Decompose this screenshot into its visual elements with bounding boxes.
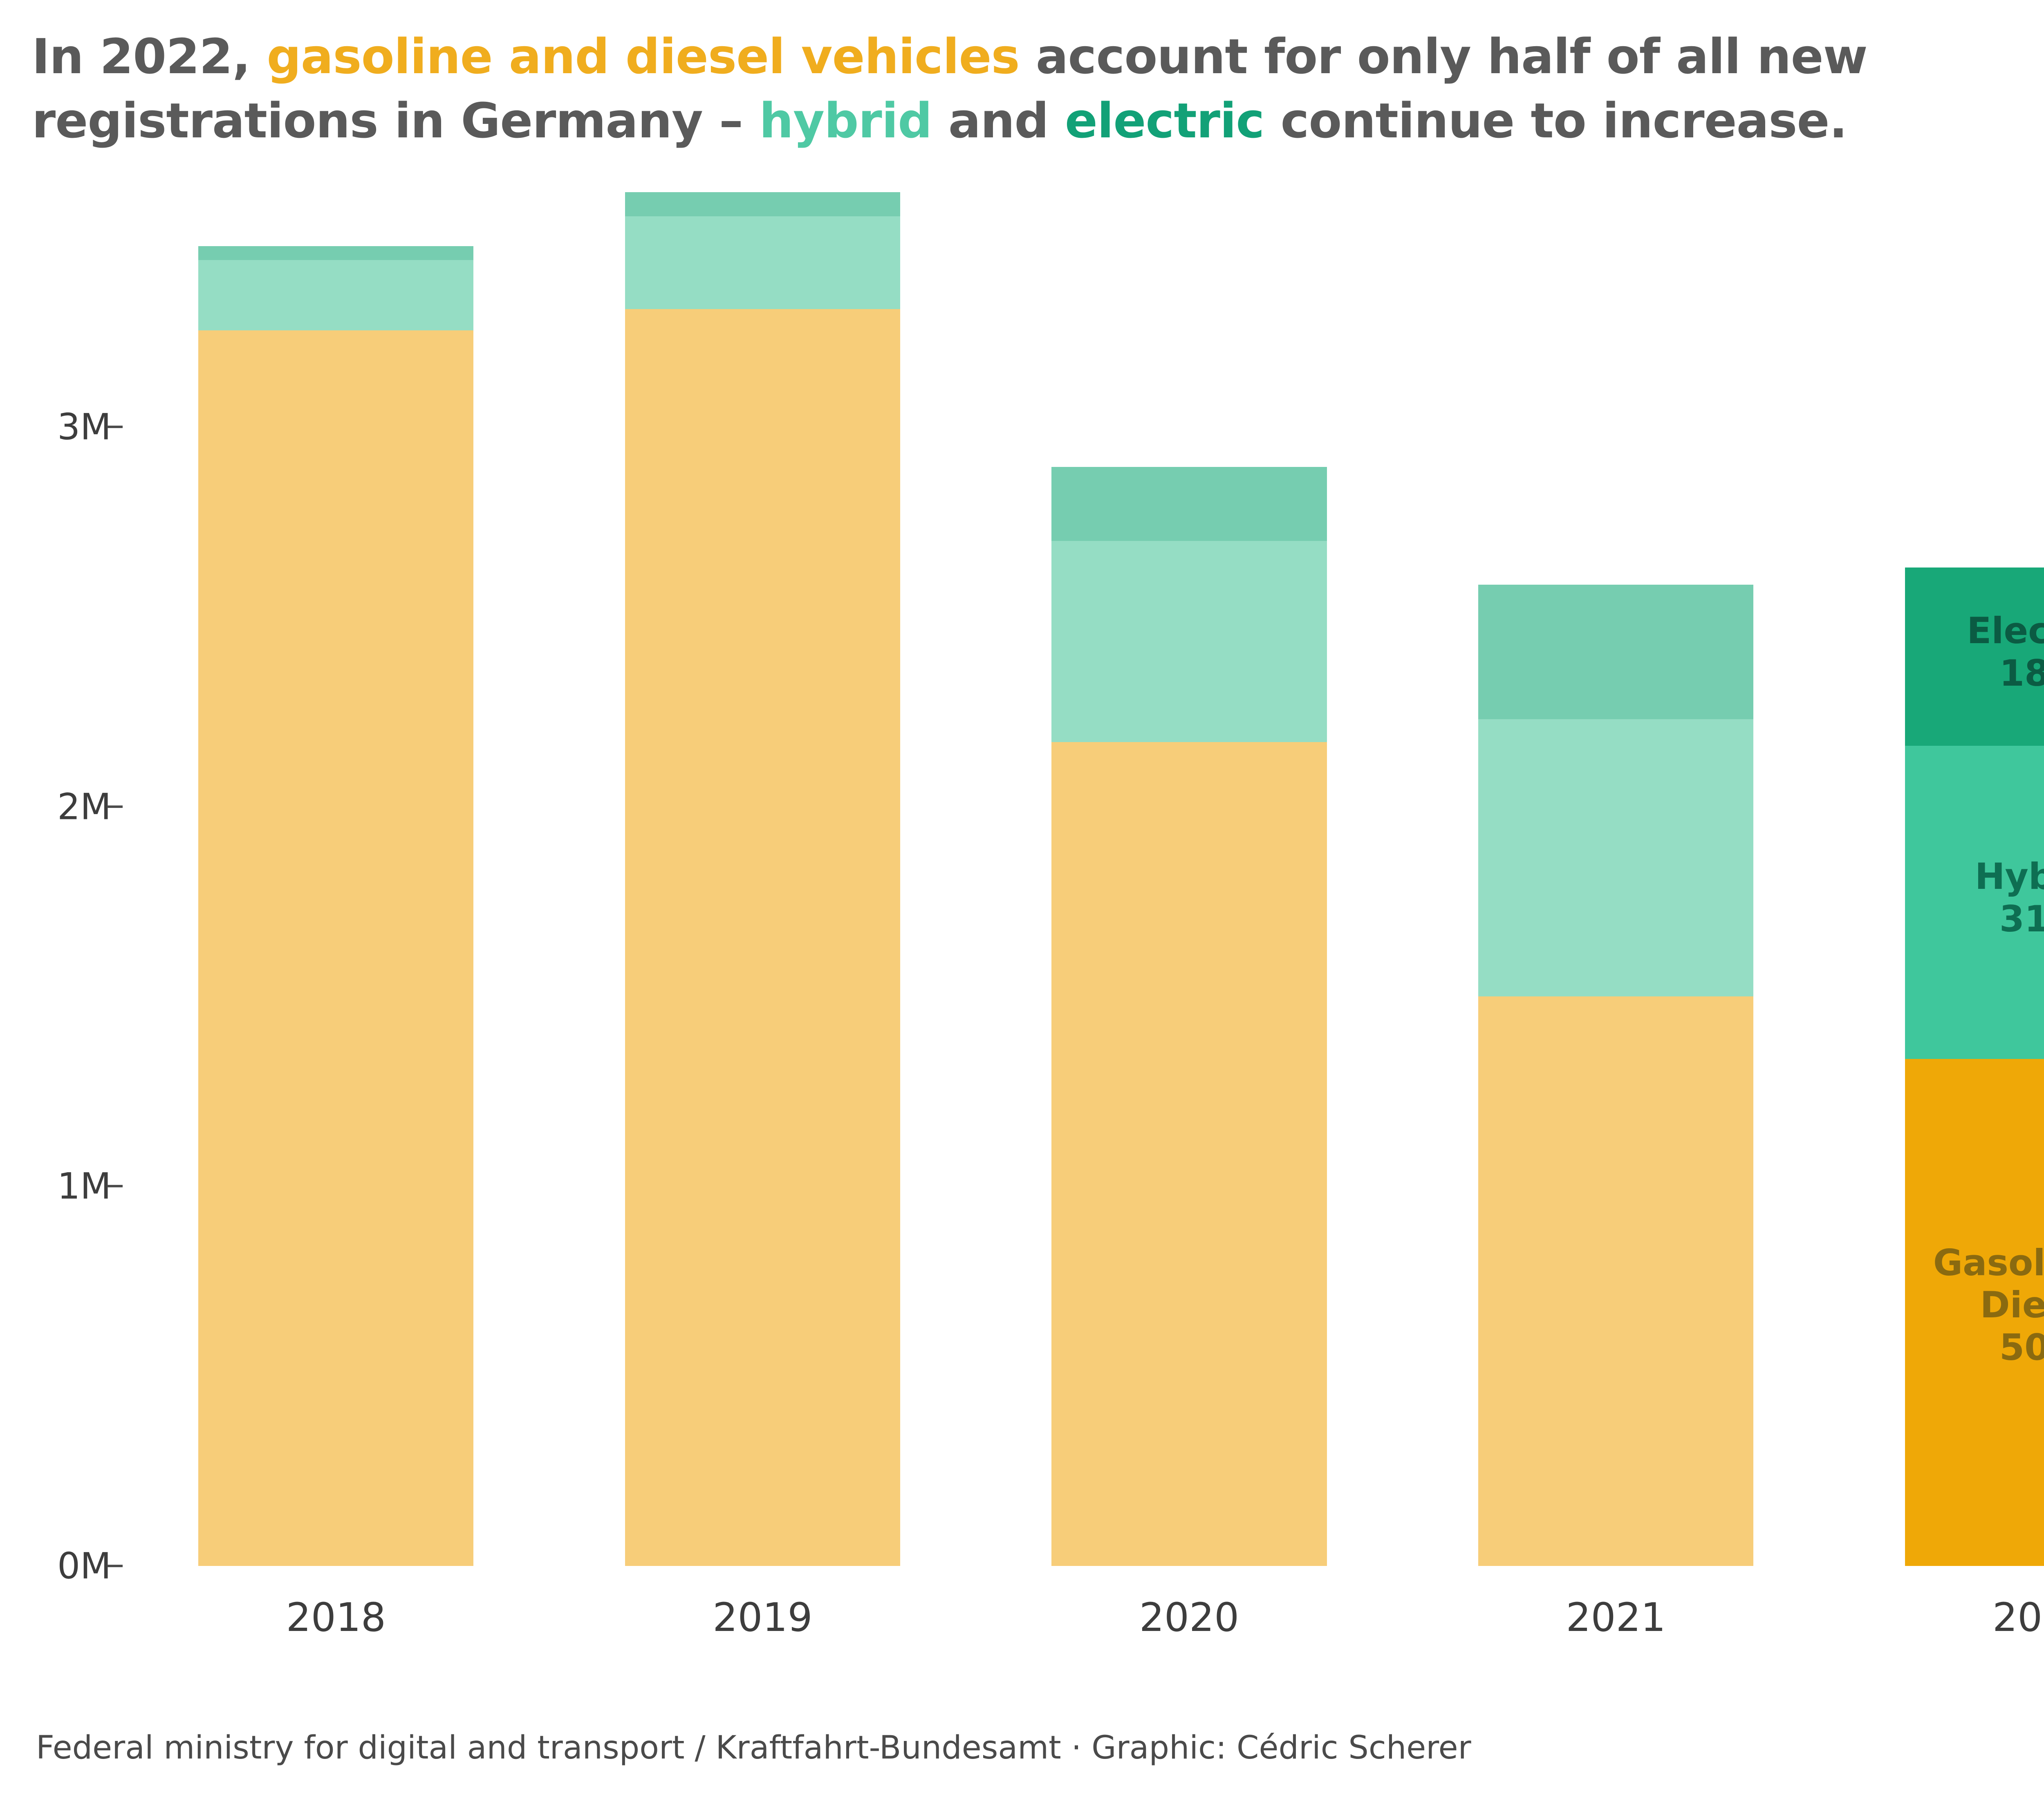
bar-segment-gasoline-diesel-2018[interactable]: [198, 330, 473, 1566]
source-caption: Federal ministry for digital and transpo…: [36, 1729, 1471, 1766]
bar-segment-hybrid-2020[interactable]: [1051, 541, 1327, 742]
title-text-5: continue to increase.: [1264, 92, 1847, 149]
bar-segment-electric-2021[interactable]: [1478, 585, 1753, 720]
y-axis-tick-mark: [107, 1565, 123, 1567]
y-axis-tick-mark: [107, 805, 123, 808]
segment-label-hybrid: Hybrid31%: [1905, 855, 2044, 940]
chart-page: In 2022, gasoline and diesel vehicles ac…: [0, 0, 2044, 1799]
title-highlight-electric: electric: [1065, 92, 1264, 149]
y-axis-tick-label: 0M: [0, 1545, 111, 1587]
y-axis-tick-mark: [107, 1185, 123, 1187]
title-text-4: and: [932, 92, 1065, 149]
bar-segment-hybrid-2019[interactable]: [625, 216, 900, 310]
x-axis-tick-label-2021: 2021: [1566, 1595, 1665, 1640]
bar-segment-electric-2022[interactable]: Electric18%: [1905, 568, 2044, 746]
bar-segment-gasoline-diesel-2019[interactable]: [625, 309, 900, 1566]
y-axis-tick-label: 1M: [0, 1165, 111, 1207]
bar-segment-hybrid-2021[interactable]: [1478, 719, 1753, 996]
title-text-1: In 2022,: [32, 28, 267, 85]
segment-label-electric: Electric18%: [1905, 610, 2044, 695]
y-axis-tick-mark: [107, 426, 123, 428]
y-axis-tick-label: 2M: [0, 785, 111, 828]
title-highlight-hybrid: hybrid: [759, 92, 932, 149]
bar-segment-electric-2019[interactable]: [625, 192, 900, 216]
bar-segment-gasoline-diesel-2020[interactable]: [1051, 742, 1327, 1566]
plot-area: 0M1M2M3M2018201920202021Electric18%Hybri…: [123, 237, 2044, 1566]
page-title: In 2022, gasoline and diesel vehicles ac…: [32, 25, 2044, 153]
bar-segment-electric-2018[interactable]: [198, 246, 473, 260]
title-text-3: registrations in Germany –: [32, 92, 759, 149]
bar-segment-electric-2020[interactable]: [1051, 467, 1327, 541]
bar-segment-hybrid-2022[interactable]: Hybrid31%: [1905, 746, 2044, 1059]
bar-segment-gasoline-diesel-2021[interactable]: [1478, 996, 1753, 1566]
x-axis-tick-label-2018: 2018: [286, 1595, 386, 1640]
y-axis-tick-label: 3M: [0, 406, 111, 448]
bar-2021[interactable]: [1478, 585, 1753, 1566]
segment-label-gasoline-diesel: Gasoline &Diesel50%: [1905, 1242, 2044, 1369]
title-text-2: account for only half of all new: [1020, 28, 1867, 85]
bar-2022[interactable]: Electric18%Hybrid31%Gasoline &Diesel50%: [1905, 568, 2044, 1566]
bar-segment-gasoline-diesel-2022[interactable]: Gasoline &Diesel50%: [1905, 1059, 2044, 1566]
title-highlight-gasoline: gasoline and diesel vehicles: [267, 28, 1019, 85]
bar-2019[interactable]: [625, 192, 900, 1566]
x-axis-tick-label-2020: 2020: [1139, 1595, 1239, 1640]
bar-segment-hybrid-2018[interactable]: [198, 260, 473, 330]
bar-2020[interactable]: [1051, 467, 1327, 1566]
x-axis-tick-label-2022: 2022: [1992, 1595, 2044, 1640]
bar-2018[interactable]: [198, 246, 473, 1566]
x-axis-tick-label-2019: 2019: [713, 1595, 812, 1640]
